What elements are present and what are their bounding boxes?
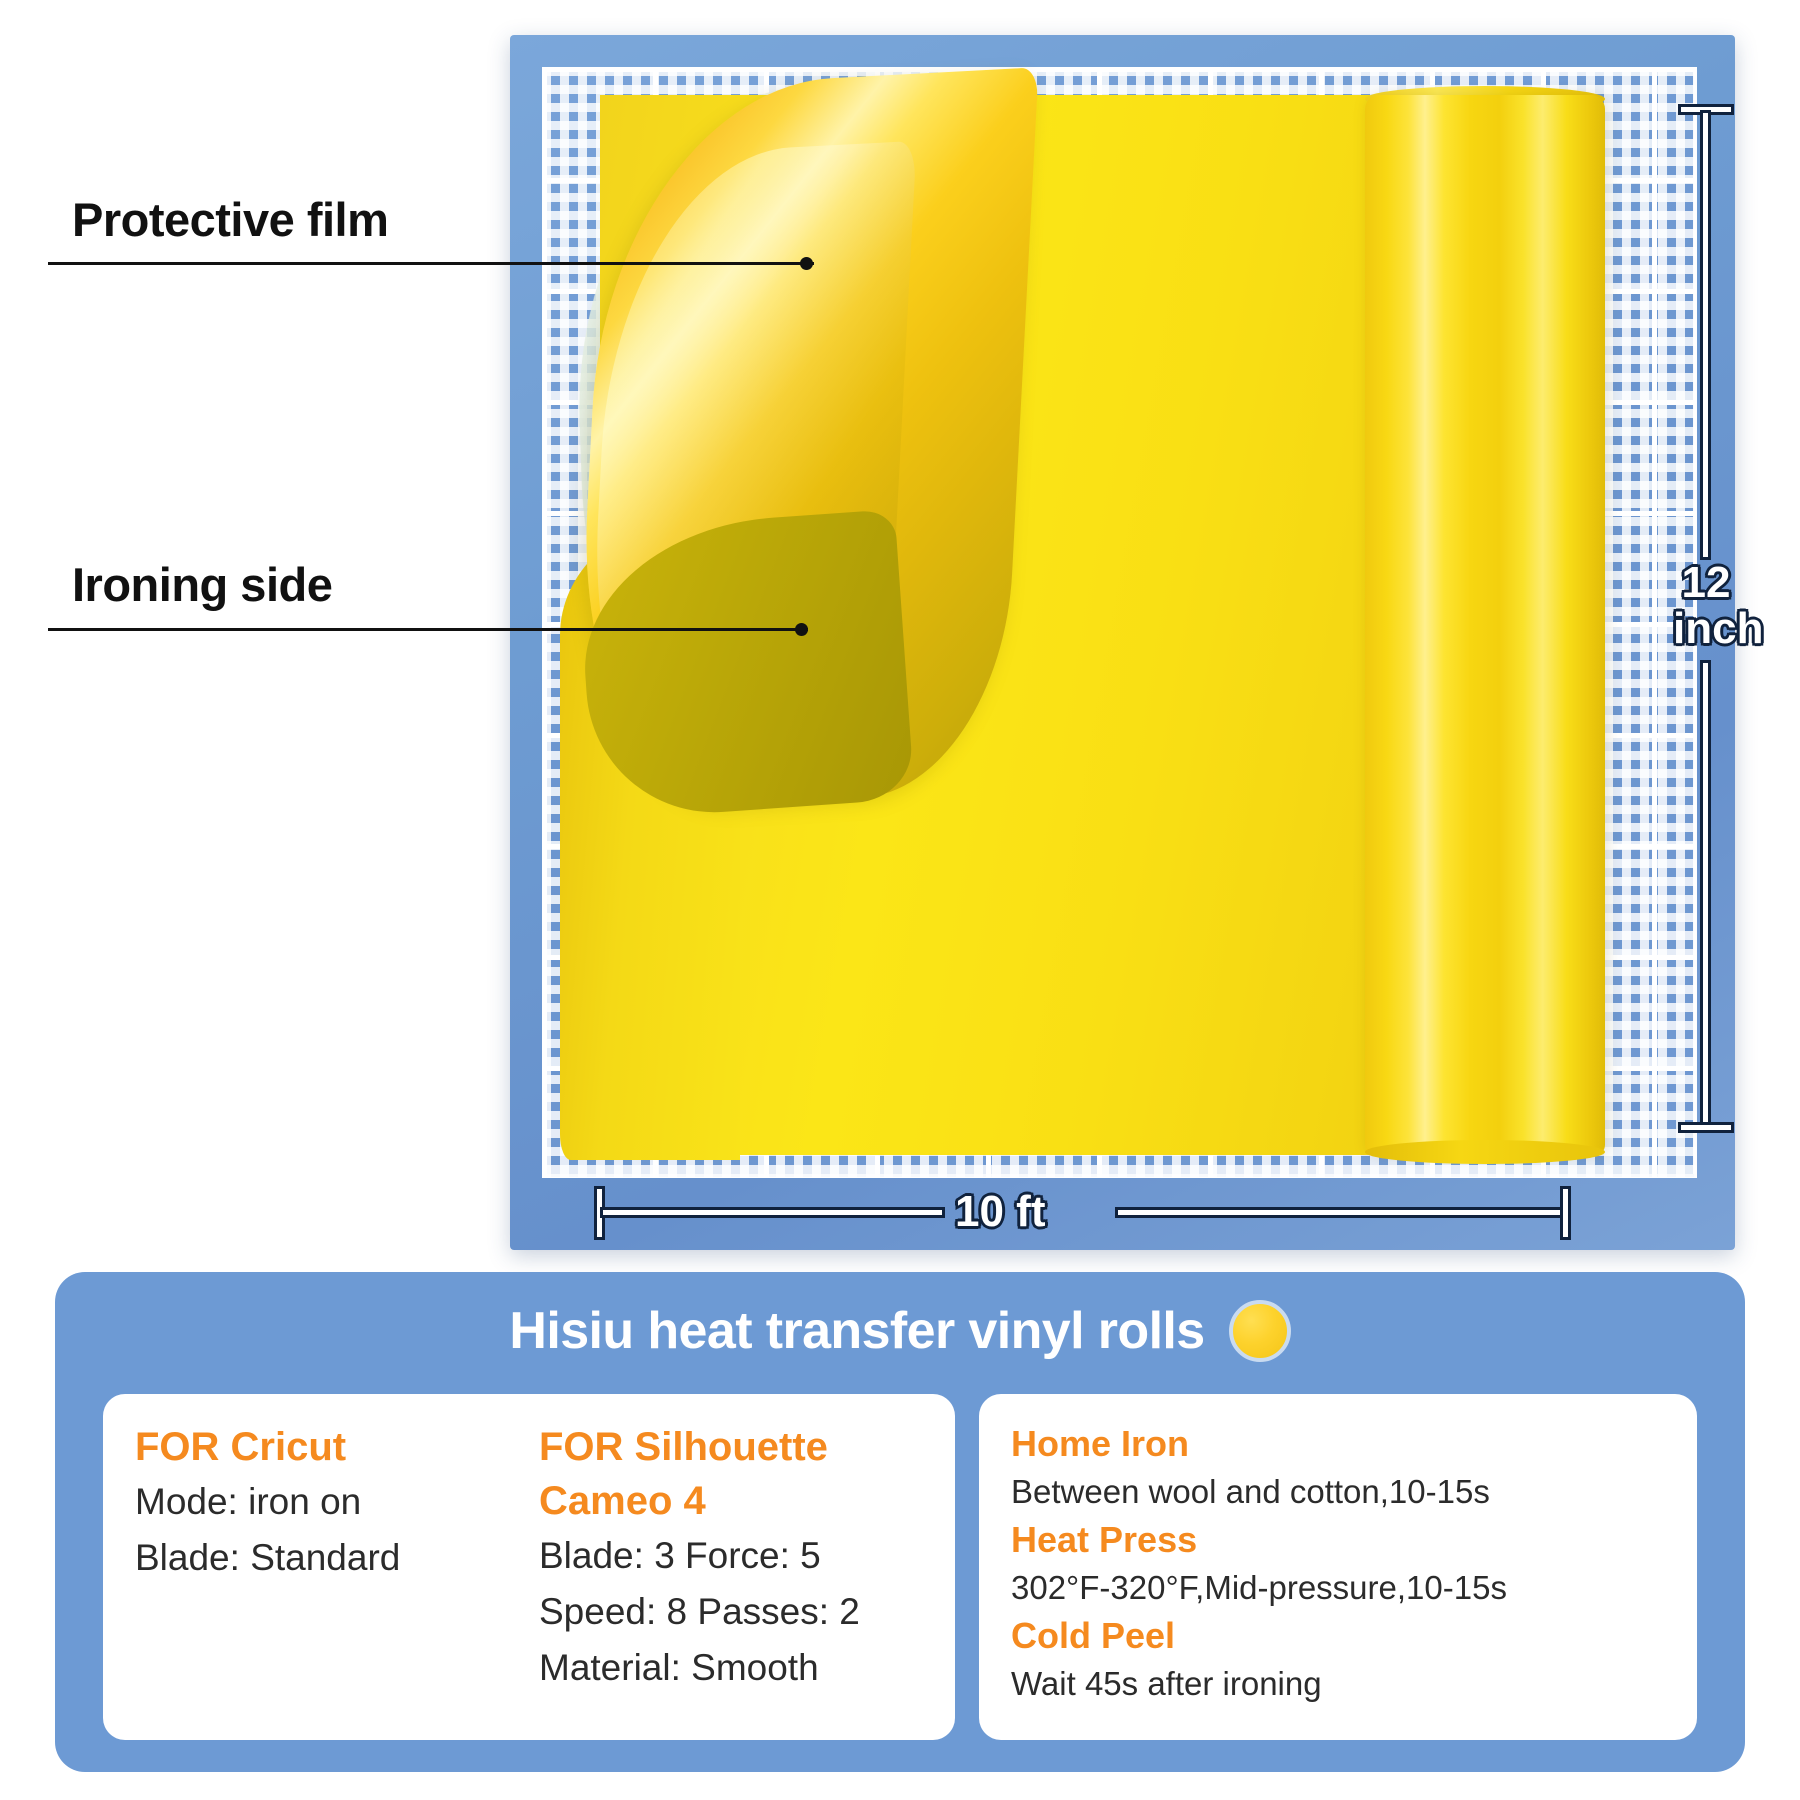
vinyl-roll-cylinder	[1365, 95, 1605, 1155]
product-info-panel: Hisiu heat transfer vinyl rolls FOR Cric…	[55, 1272, 1745, 1772]
callout-dot-ironing-side	[795, 623, 808, 636]
dimension-line-horizontal-left	[600, 1207, 945, 1218]
info-cards-row: FOR Cricut Mode: iron on Blade: Standard…	[103, 1394, 1697, 1740]
dimension-cap-right	[1560, 1186, 1571, 1240]
home-iron-text: Between wool and cotton,10-15s	[1011, 1468, 1665, 1516]
dimension-cap-bottom	[1678, 1122, 1734, 1133]
heat-press-text: 302°F-320°F,Mid-pressure,10-15s	[1011, 1564, 1665, 1612]
application-instructions-card: Home Iron Between wool and cotton,10-15s…	[979, 1394, 1697, 1740]
cold-peel-heading: Cold Peel	[1011, 1612, 1665, 1660]
cold-peel-text: Wait 45s after ironing	[1011, 1660, 1665, 1708]
cricut-settings-column: FOR Cricut Mode: iron on Blade: Standard	[135, 1420, 519, 1720]
heat-press-heading: Heat Press	[1011, 1516, 1665, 1564]
silhouette-heading-line2: Cameo 4	[539, 1474, 923, 1528]
dimension-line-vertical-top	[1700, 110, 1711, 560]
callout-dot-protective-film	[800, 257, 813, 270]
silhouette-blade-force-line: Blade: 3 Force: 5	[539, 1528, 923, 1584]
dimension-label-width: 10 ft	[955, 1187, 1045, 1237]
cricut-blade-line: Blade: Standard	[135, 1530, 519, 1586]
callout-leader-line-protective-film	[48, 262, 814, 265]
dimension-label-height: 12inch	[1673, 560, 1739, 652]
cricut-mode-line: Mode: iron on	[135, 1474, 519, 1530]
dimension-line-vertical-bottom	[1700, 660, 1711, 1130]
vinyl-roll-bottom-cap	[1365, 1140, 1605, 1164]
callout-label-ironing-side: Ironing side	[72, 557, 332, 612]
silhouette-settings-column: FOR Silhouette Cameo 4 Blade: 3 Force: 5…	[539, 1420, 923, 1720]
dimension-height-unit: inch	[1673, 604, 1763, 653]
cricut-heading: FOR Cricut	[135, 1420, 519, 1474]
home-iron-heading: Home Iron	[1011, 1420, 1665, 1468]
panel-title-row: Hisiu heat transfer vinyl rolls	[55, 1300, 1745, 1362]
silhouette-speed-passes-line: Speed: 8 Passes: 2	[539, 1584, 923, 1640]
color-swatch-yellow	[1229, 1300, 1291, 1362]
panel-title: Hisiu heat transfer vinyl rolls	[509, 1301, 1204, 1361]
callout-leader-line-ironing-side	[48, 628, 808, 631]
silhouette-heading-line1: FOR Silhouette	[539, 1420, 923, 1474]
silhouette-material-line: Material: Smooth	[539, 1640, 923, 1696]
callout-label-protective-film: Protective film	[72, 192, 388, 247]
dimension-line-horizontal-right	[1115, 1207, 1565, 1218]
machine-settings-card: FOR Cricut Mode: iron on Blade: Standard…	[103, 1394, 955, 1740]
product-photo-scene: Protective film Ironing side 12inch 10 f…	[0, 0, 1800, 1270]
dimension-height-value: 12	[1682, 558, 1731, 607]
